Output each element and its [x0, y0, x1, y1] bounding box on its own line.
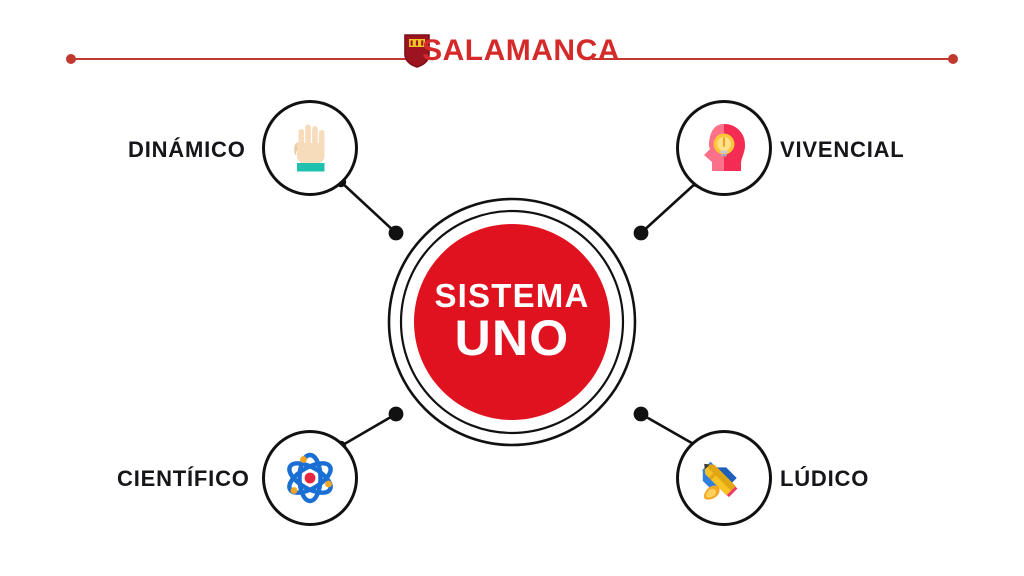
node-label-dinamico: DINÁMICO: [128, 137, 246, 163]
head-with-lightbulb-icon: [698, 122, 750, 174]
center-title-line2: UNO: [455, 312, 570, 365]
node-label-ludico: LÚDICO: [780, 466, 869, 492]
slide-canvas: SALAMANCA SISTEMA: [0, 0, 1024, 576]
sistema-uno-diagram: SISTEMA UNO DINÁMICO: [0, 0, 1024, 576]
node-circle-ludico[interactable]: [676, 430, 772, 526]
atom-icon: [283, 451, 337, 505]
pencil-rocket-icon: [696, 450, 752, 506]
ring-node-top-left: [389, 226, 404, 241]
center-core: SISTEMA UNO: [414, 224, 610, 420]
raised-hand-icon: [287, 123, 333, 173]
wire-dinamico: [341, 182, 396, 233]
node-circle-vivencial[interactable]: [676, 100, 772, 196]
node-label-vivencial: VIVENCIAL: [780, 137, 905, 163]
wire-vivencial: [641, 182, 697, 233]
wire-ludico: [641, 414, 697, 446]
ring-node-bottom-right: [634, 407, 649, 422]
ring-node-bottom-left: [389, 407, 404, 422]
node-label-cientifico: CIENTÍFICO: [117, 466, 250, 492]
wire-cientifico: [341, 414, 396, 446]
node-circle-dinamico[interactable]: [262, 100, 358, 196]
node-circle-cientifico[interactable]: [262, 430, 358, 526]
center-title-line1: SISTEMA: [434, 279, 589, 312]
brand-name: SALAMANCA: [422, 34, 620, 68]
ring-node-top-right: [634, 226, 649, 241]
